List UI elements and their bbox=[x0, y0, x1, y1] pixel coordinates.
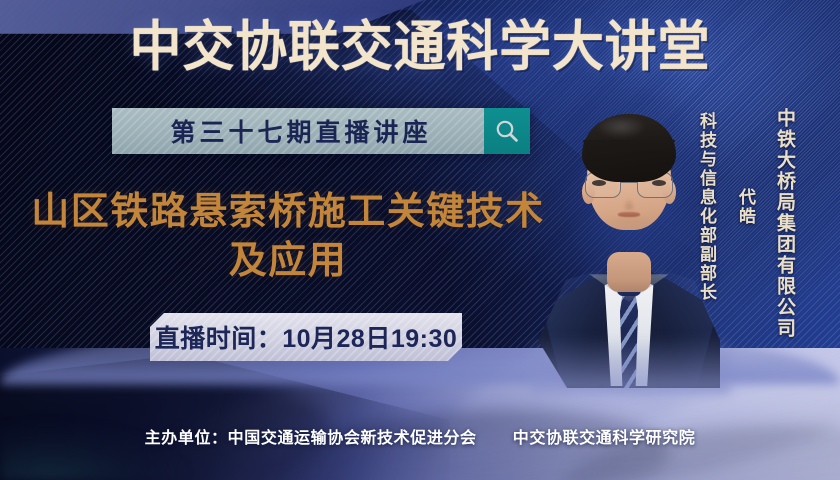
speaker-name: 代皓 bbox=[733, 188, 758, 226]
speaker-info: 代皓 科技与信息化部副部长 bbox=[694, 112, 758, 302]
search-icon bbox=[494, 118, 520, 144]
broadcast-time-badge: 直播时间：10月28日19:30 bbox=[150, 313, 462, 361]
subtitle-label: 第三十七期直播讲座 bbox=[164, 113, 431, 149]
footer-organizers: 主办单位：中国交通运输协会新技术促进分会 中交协联交通科学研究院 bbox=[0, 424, 840, 448]
portrait-mouth bbox=[618, 212, 640, 217]
headline-line-1: 山区铁路悬索桥施工关键技术 bbox=[31, 191, 545, 233]
broadcast-time-text: 直播时间：10月28日19:30 bbox=[155, 319, 458, 355]
portrait-bottom-fade bbox=[530, 336, 730, 394]
portrait-hair-sheen bbox=[599, 118, 655, 140]
footer-organizer: 主办单位：中国交通运输协会新技术促进分会 bbox=[145, 430, 477, 447]
speaker-company: 中铁大桥局集团有限公司 bbox=[771, 108, 798, 339]
portrait-chin bbox=[606, 218, 652, 234]
lecture-headline: 山区铁路悬索桥施工关键技术 及应用 bbox=[18, 188, 558, 286]
subtitle-bar-body: 第三十七期直播讲座 bbox=[112, 108, 484, 154]
footer-institute: 中交协联交通科学研究院 bbox=[513, 430, 696, 447]
speaker-role: 科技与信息化部副部长 bbox=[694, 112, 719, 302]
search-icon-box[interactable] bbox=[484, 108, 530, 154]
promotional-poster: 中交协联交通科学大讲堂 第三十七期直播讲座 山区铁路悬索桥施工关键技术 及应用 … bbox=[0, 0, 840, 480]
subtitle-bar: 第三十七期直播讲座 bbox=[112, 108, 530, 154]
page-title: 中交协联交通科学大讲堂 bbox=[17, 16, 823, 78]
portrait-neck bbox=[607, 252, 651, 292]
headline-line-2: 及应用 bbox=[18, 237, 558, 286]
